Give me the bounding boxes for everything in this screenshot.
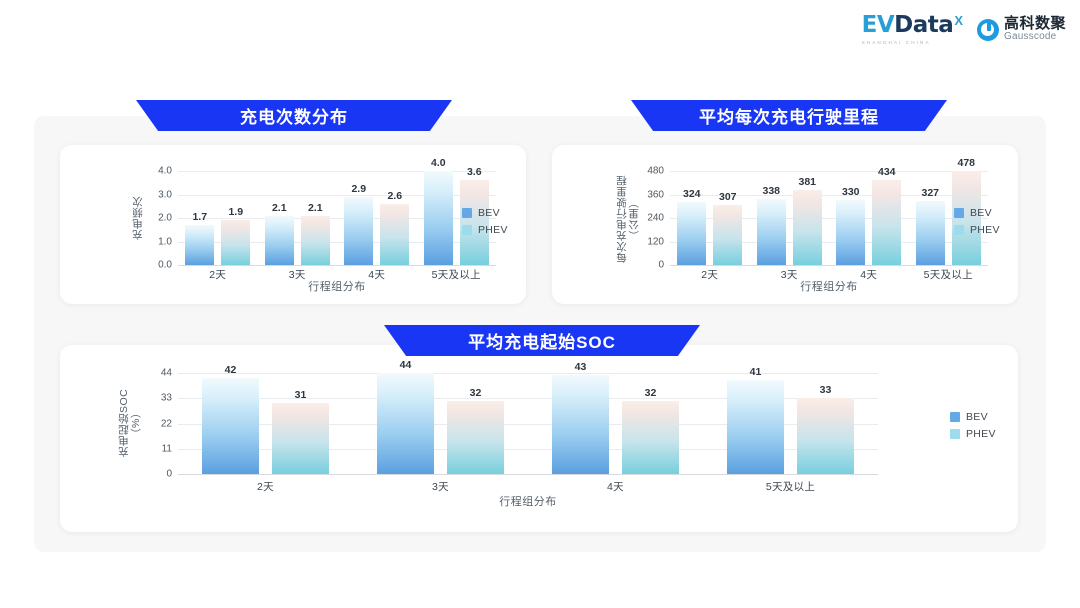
x-axis-tick: 5天及以上 — [417, 267, 497, 282]
bar-phev[interactable] — [447, 401, 504, 474]
y-axis-tick: 0 — [138, 469, 172, 480]
chart-card-avg-start-soc: 011223344充电起始SOC （%）行程组分布2天42313天44324天4… — [60, 345, 1018, 532]
x-axis-tick: 5天及以上 — [703, 479, 878, 494]
chart-charging-frequency: 0.01.02.03.04.0充电频次行程组分布2天1.71.93天2.12.1… — [60, 145, 526, 304]
bar-bev[interactable] — [757, 199, 786, 265]
x-axis-tick: 4天 — [337, 267, 417, 282]
chart-legend: BEVPHEV — [954, 207, 1000, 236]
gausscode-text: 高科数聚 Gausscode — [1004, 16, 1066, 42]
bar-value-label: 31 — [295, 389, 307, 401]
bar-bev[interactable] — [377, 373, 434, 474]
chart-avg-range: 0120240360480每次充电行驶里程 （公里）行程组分布2天3243073… — [552, 145, 1018, 304]
bar-phev[interactable] — [221, 220, 250, 265]
bar-bev[interactable] — [916, 201, 945, 265]
x-axis-tick: 2天 — [178, 479, 353, 494]
chart-title-banner-2: 平均每次充电行驶里程 — [631, 100, 947, 131]
slide-root: EVData X SHANGHAI CHINA 高科数聚 Gausscode 0… — [0, 0, 1080, 608]
legend-swatch-icon — [462, 225, 472, 235]
x-axis-tick: 4天 — [829, 267, 909, 282]
y-axis-label: 充电频次 — [132, 177, 144, 259]
evdata-x-icon: X — [954, 14, 963, 27]
legend-label: BEV — [970, 207, 992, 219]
bar-phev[interactable] — [622, 401, 679, 474]
bar-value-label: 2.1 — [308, 202, 323, 214]
bar-value-label: 338 — [762, 185, 780, 197]
bar-value-label: 4.0 — [431, 157, 446, 169]
legend-label: BEV — [966, 411, 988, 423]
bar-bev[interactable] — [344, 197, 373, 265]
bar-phev[interactable] — [793, 190, 822, 265]
x-axis-tick: 3天 — [258, 267, 338, 282]
bar-value-label: 2.1 — [272, 202, 287, 214]
y-axis-tick: 11 — [138, 443, 172, 454]
chart-card-charging-frequency: 0.01.02.03.04.0充电频次行程组分布2天1.71.93天2.12.1… — [60, 145, 526, 304]
x-axis-label: 行程组分布 — [178, 493, 878, 509]
gausscode-name-cn: 高科数聚 — [1004, 16, 1066, 32]
x-axis-tick: 2天 — [178, 267, 258, 282]
x-axis-tick: 3天 — [750, 267, 830, 282]
legend-label: PHEV — [478, 224, 508, 236]
evdata-data-text: Data — [894, 12, 953, 38]
bar-bev[interactable] — [836, 200, 865, 265]
x-axis-line — [670, 265, 988, 266]
legend-label: PHEV — [970, 224, 1000, 236]
chart-avg-start-soc: 011223344充电起始SOC （%）行程组分布2天42313天44324天4… — [60, 345, 1018, 532]
y-axis-tick: 22 — [138, 418, 172, 429]
gridline — [178, 373, 878, 374]
bar-value-label: 3.6 — [467, 166, 482, 178]
legend-label: BEV — [478, 207, 500, 219]
chart-card-avg-range: 0120240360480每次充电行驶里程 （公里）行程组分布2天3243073… — [552, 145, 1018, 304]
x-axis-tick: 4天 — [528, 479, 703, 494]
bar-bev[interactable] — [185, 225, 214, 265]
x-axis-tick: 2天 — [670, 267, 750, 282]
bar-value-label: 44 — [400, 359, 412, 371]
legend-swatch-icon — [950, 429, 960, 439]
bar-value-label: 2.9 — [351, 183, 366, 195]
bar-value-label: 381 — [798, 176, 816, 188]
legend-label: PHEV — [966, 428, 996, 440]
gausscode-name-en: Gausscode — [1004, 32, 1066, 43]
bar-value-label: 32 — [470, 387, 482, 399]
gridline — [670, 195, 988, 196]
bar-phev[interactable] — [380, 204, 409, 265]
bar-value-label: 324 — [683, 188, 701, 200]
legend-item-bev[interactable]: BEV — [462, 207, 508, 219]
bar-bev[interactable] — [424, 171, 453, 265]
legend-swatch-icon — [954, 208, 964, 218]
y-axis-tick: 0.0 — [138, 260, 172, 271]
bar-bev[interactable] — [202, 378, 259, 474]
x-axis-tick: 5天及以上 — [909, 267, 989, 282]
bar-bev[interactable] — [677, 202, 706, 265]
bar-value-label: 327 — [921, 187, 939, 199]
x-axis-tick: 3天 — [353, 479, 528, 494]
x-axis-line — [178, 474, 878, 475]
bar-value-label: 43 — [575, 361, 587, 373]
y-axis-label: 充电起始SOC （%） — [118, 371, 142, 475]
bar-bev[interactable] — [552, 375, 609, 474]
bar-value-label: 41 — [750, 366, 762, 378]
legend-swatch-icon — [954, 225, 964, 235]
bar-value-label: 1.9 — [228, 206, 243, 218]
bar-value-label: 434 — [878, 166, 896, 178]
gausscode-logo: 高科数聚 Gausscode — [977, 16, 1066, 42]
bar-phev[interactable] — [797, 398, 854, 474]
bar-value-label: 478 — [957, 157, 975, 169]
bar-value-label: 307 — [719, 191, 737, 203]
bar-value-label: 2.6 — [387, 190, 402, 202]
y-axis-label: 每次充电行驶里程 （公里） — [616, 167, 640, 271]
chart-legend: BEVPHEV — [950, 411, 996, 440]
brand-bar: EVData X SHANGHAI CHINA 高科数聚 Gausscode — [862, 14, 1066, 45]
bar-phev[interactable] — [301, 216, 330, 265]
bar-bev[interactable] — [727, 380, 784, 474]
legend-item-bev[interactable]: BEV — [954, 207, 1000, 219]
evdata-wordmark: EVData — [862, 14, 954, 37]
evdata-tagline: SHANGHAI CHINA — [862, 40, 931, 45]
chart-title-banner-3: 平均充电起始SOC — [384, 325, 700, 356]
bar-value-label: 32 — [645, 387, 657, 399]
bar-value-label: 42 — [225, 364, 237, 376]
evdata-ev-text: EV — [862, 12, 895, 38]
legend-swatch-icon — [950, 412, 960, 422]
chart-title-banner-1: 充电次数分布 — [136, 100, 452, 131]
x-axis-line — [178, 265, 496, 266]
bar-phev[interactable] — [272, 403, 329, 474]
evdata-logo: EVData X SHANGHAI CHINA — [862, 14, 963, 45]
gausscode-mark-icon — [977, 19, 999, 41]
gridline — [670, 171, 988, 172]
y-axis-tick: 33 — [138, 393, 172, 404]
legend-item-phev[interactable]: PHEV — [462, 224, 508, 236]
legend-item-phev[interactable]: PHEV — [954, 224, 1000, 236]
chart-legend: BEVPHEV — [462, 207, 508, 236]
legend-item-bev[interactable]: BEV — [950, 411, 996, 423]
bar-value-label: 33 — [820, 384, 832, 396]
bar-bev[interactable] — [265, 216, 294, 265]
bar-value-label: 1.7 — [192, 211, 207, 223]
bar-value-label: 330 — [842, 186, 860, 198]
y-axis-tick: 4.0 — [138, 166, 172, 177]
evdata-logo-row: EVData X — [862, 14, 963, 37]
bar-phev[interactable] — [713, 205, 742, 265]
legend-item-phev[interactable]: PHEV — [950, 428, 996, 440]
bar-phev[interactable] — [872, 180, 901, 265]
y-axis-tick: 44 — [138, 368, 172, 379]
legend-swatch-icon — [462, 208, 472, 218]
